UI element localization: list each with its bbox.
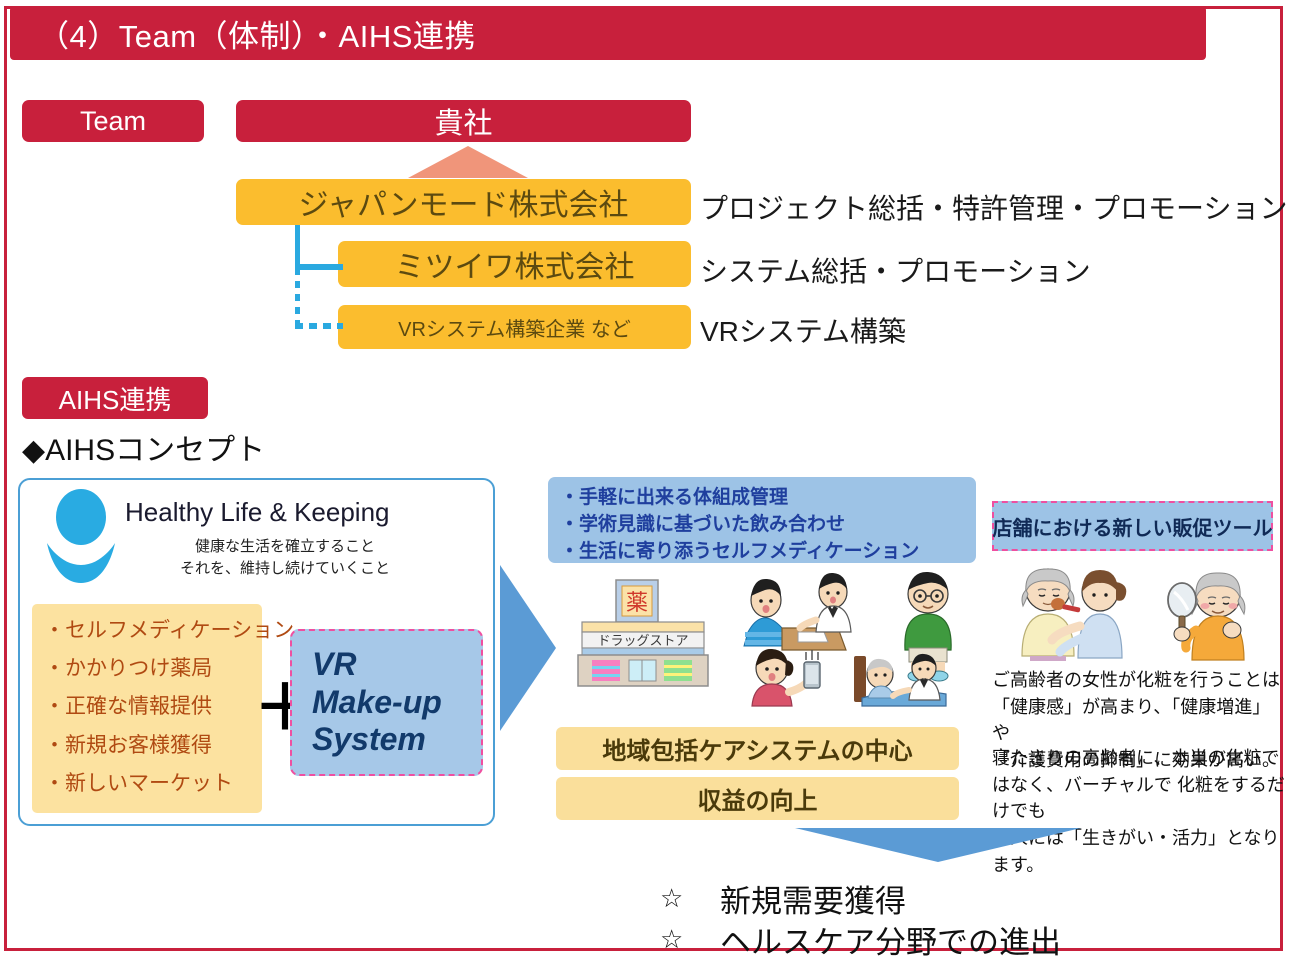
svg-text:ドラッグストア: ドラッグストア (597, 634, 688, 649)
benefits-box: ・手軽に出来る体組成管理 ・学術見識に基づいた飲み合わせ ・生活に寄り添うセルフ… (548, 477, 976, 563)
outcome-bar-revenue: 収益の向上 (556, 777, 959, 820)
concept-subtitle-line1: 健康な生活を確立すること (140, 536, 430, 558)
page-title: （4）Team（体制）・AIHS連携 (10, 11, 476, 56)
list-item: ・手軽に出来る体組成管理 (560, 485, 976, 512)
slide-canvas: （4）Team（体制）・AIHS連携 Team 貴社 ジャパンモード株式会社 プ… (0, 0, 1289, 963)
star-icon: ☆ (660, 883, 720, 914)
promotion-tool-label: 店舗における新しい販促ツール (993, 512, 1273, 541)
team-section-label: Team (22, 100, 204, 142)
client-company-box: 貴社 (236, 100, 691, 142)
vr-line-1: VR (312, 646, 481, 684)
list-item: ・新しいマーケット (44, 765, 262, 803)
right-arrow-icon (500, 565, 556, 731)
down-arrow-icon (795, 828, 1081, 862)
list-item: ・正確な情報提供 (44, 688, 262, 726)
outcome-bar-community: 地域包括ケアシステムの中心 (556, 727, 959, 770)
list-item: ・セルフメディケーション (44, 612, 262, 650)
vr-line-2: Make-up (312, 684, 481, 722)
up-arrow-icon (408, 146, 528, 178)
elderly-makeup-illustration (998, 566, 1270, 661)
connector-line-vertical (295, 225, 300, 269)
org-box-primary: ジャパンモード株式会社 (236, 179, 691, 225)
vr-line-3: System (312, 721, 481, 759)
org-desc-vendor: VRシステム構築 (700, 310, 906, 350)
outcome-label: ヘルスケア分野での進出 (720, 917, 1061, 962)
outcome-item-healthcare: ☆ ヘルスケア分野での進出 (660, 917, 1061, 962)
vr-makeup-system-box: VR Make-up System (290, 629, 483, 776)
svg-text:薬: 薬 (626, 591, 648, 616)
org-desc-primary: プロジェクト総括・特許管理・プロモーション (700, 187, 1287, 227)
drugstore-illustration: 薬 ドラッグストア (572, 578, 714, 688)
org-box-secondary: ミツイワ株式会社 (338, 241, 691, 287)
org-box-vendor: VRシステム構築企業 など (338, 305, 691, 349)
connector-line-horizontal (295, 264, 343, 270)
outcome-item-new-demand: ☆ 新規需要獲得 (660, 876, 906, 921)
list-item: ・生活に寄り添うセルフメディケーション (560, 539, 976, 566)
concept-title: Healthy Life & Keeping (125, 497, 390, 528)
connector-line-horizontal-dotted (295, 323, 343, 329)
person-cupping-icon (44, 487, 118, 585)
aihs-section-label: AIHS連携 (22, 377, 208, 419)
org-desc-secondary: システム総括・プロモーション (700, 250, 1091, 290)
promotion-tool-box: 店舗における新しい販促ツール (992, 501, 1273, 551)
outcome-label: 新規需要獲得 (720, 876, 906, 921)
connector-line-vertical-dotted (295, 268, 300, 328)
list-item: ・新規お客様獲得 (44, 727, 262, 765)
concept-heading: ◆AIHSコンセプト (22, 425, 265, 469)
star-icon: ☆ (660, 924, 720, 955)
concept-subtitle-line2: それを、維持し続けていくこと (140, 558, 430, 580)
list-item: ・かかりつけ薬局 (44, 650, 262, 688)
people-illustration (740, 570, 985, 710)
list-item: ・学術見識に基づいた飲み合わせ (560, 512, 976, 539)
concept-subtitle: 健康な生活を確立すること それを、維持し続けていくこと (140, 536, 430, 580)
slide-title-bar: （4）Team（体制）・AIHS連携 (10, 6, 1206, 60)
concept-bullet-list: ・セルフメディケーション ・かかりつけ薬局 ・正確な情報提供 ・新規お客様獲得 … (32, 604, 262, 813)
